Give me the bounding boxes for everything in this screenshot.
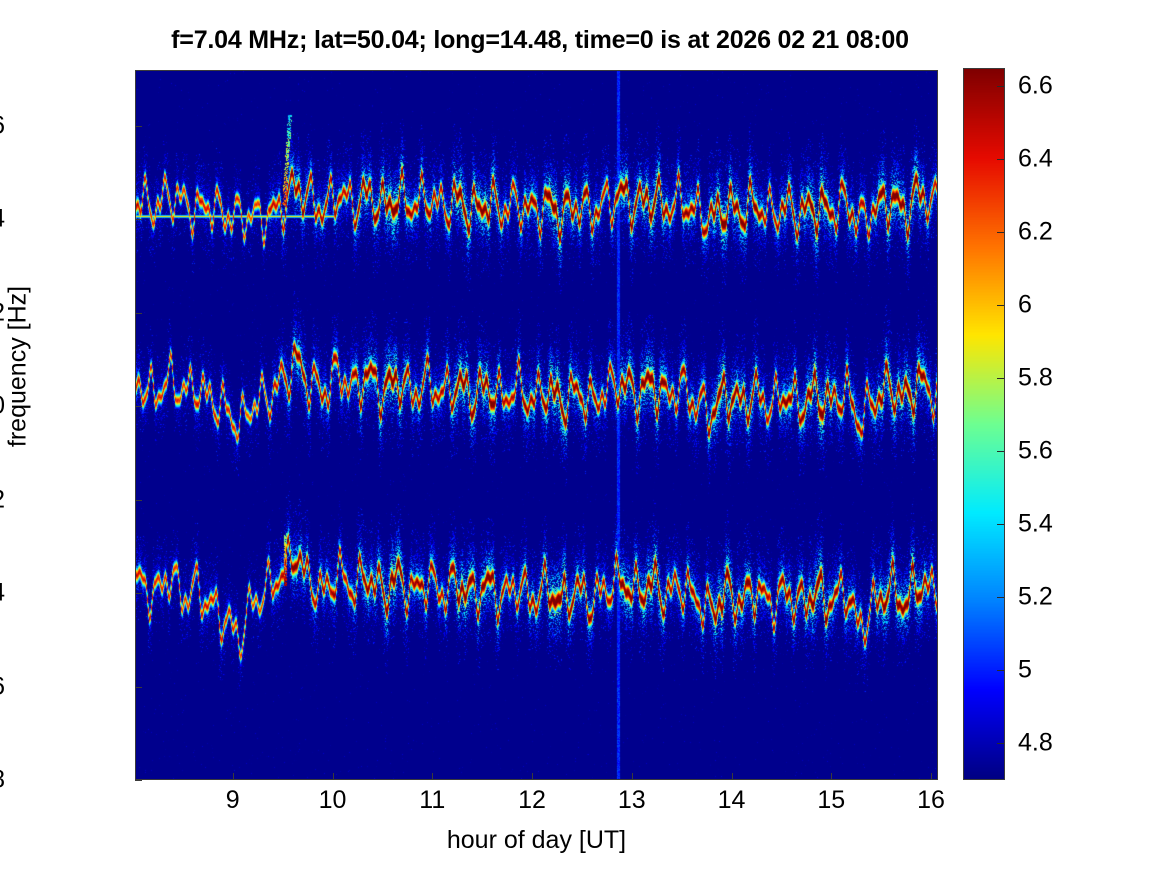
colorbar-tick-mark: [997, 451, 1004, 452]
x-tick-mark: [233, 773, 234, 780]
x-tick-label: 15: [791, 786, 871, 815]
x-tick-label: 16: [891, 786, 971, 815]
colorbar-tick-label: 6.4: [1018, 145, 1053, 174]
x-tick-label: 12: [492, 786, 572, 815]
colorbar-tick-label: 5.4: [1018, 510, 1053, 539]
y-tick-mark: [135, 780, 142, 781]
x-tick-label: 9: [193, 786, 273, 815]
colorbar-tick-label: 4.8: [1018, 729, 1053, 758]
colorbar-tick-mark: [997, 597, 1004, 598]
x-tick-mark: [632, 773, 633, 780]
x-tick-mark: [532, 773, 533, 780]
colorbar-tick-label: 6.6: [1018, 72, 1053, 101]
colorbar-tick-mark: [997, 524, 1004, 525]
spectrogram-canvas: [136, 71, 937, 779]
y-tick-label: 0: [0, 392, 5, 421]
x-tick-mark: [831, 773, 832, 780]
y-tick-label: -8: [0, 766, 5, 795]
colorbar-tick-label: 6: [1018, 291, 1032, 320]
x-tick-label: 14: [692, 786, 772, 815]
y-tick-label: 6: [0, 112, 5, 141]
y-tick-label: 4: [0, 205, 5, 234]
colorbar-tick-mark: [997, 86, 1004, 87]
x-axis-label: hour of day [UT]: [135, 826, 938, 855]
y-tick-mark: [135, 406, 142, 407]
x-tick-label: 10: [293, 786, 373, 815]
colorbar-tick-label: 6.2: [1018, 218, 1053, 247]
x-tick-mark: [333, 773, 334, 780]
colorbar-tick-mark: [997, 305, 1004, 306]
y-tick-mark: [135, 593, 142, 594]
colorbar-tick-mark: [997, 743, 1004, 744]
y-tick-label: 2: [0, 298, 5, 327]
colorbar-tick-mark: [997, 159, 1004, 160]
y-tick-label: -6: [0, 672, 5, 701]
y-axis-label: frequency [Hz]: [4, 87, 33, 647]
x-tick-label: 11: [392, 786, 472, 815]
colorbar-tick-mark: [997, 378, 1004, 379]
x-tick-mark: [931, 773, 932, 780]
figure-root: f=7.04 MHz; lat=50.04; long=14.48, time=…: [0, 0, 1167, 875]
colorbar-tick-mark: [997, 232, 1004, 233]
spectrogram-plot-area: [135, 70, 938, 780]
y-tick-mark: [135, 313, 142, 314]
y-tick-mark: [135, 687, 142, 688]
y-tick-label: -2: [0, 485, 5, 514]
x-tick-label: 13: [592, 786, 672, 815]
colorbar-tick-label: 5.2: [1018, 583, 1053, 612]
colorbar-tick-label: 5.6: [1018, 437, 1053, 466]
x-tick-mark: [432, 773, 433, 780]
x-tick-mark: [732, 773, 733, 780]
colorbar: [963, 68, 1005, 780]
colorbar-tick-mark: [997, 670, 1004, 671]
y-tick-mark: [135, 500, 142, 501]
page-title: f=7.04 MHz; lat=50.04; long=14.48, time=…: [0, 26, 1080, 55]
y-tick-mark: [135, 219, 142, 220]
y-tick-mark: [135, 126, 142, 127]
y-tick-label: -4: [0, 579, 5, 608]
colorbar-gradient: [964, 69, 1004, 779]
colorbar-tick-label: 5.8: [1018, 364, 1053, 393]
colorbar-tick-label: 5: [1018, 656, 1032, 685]
